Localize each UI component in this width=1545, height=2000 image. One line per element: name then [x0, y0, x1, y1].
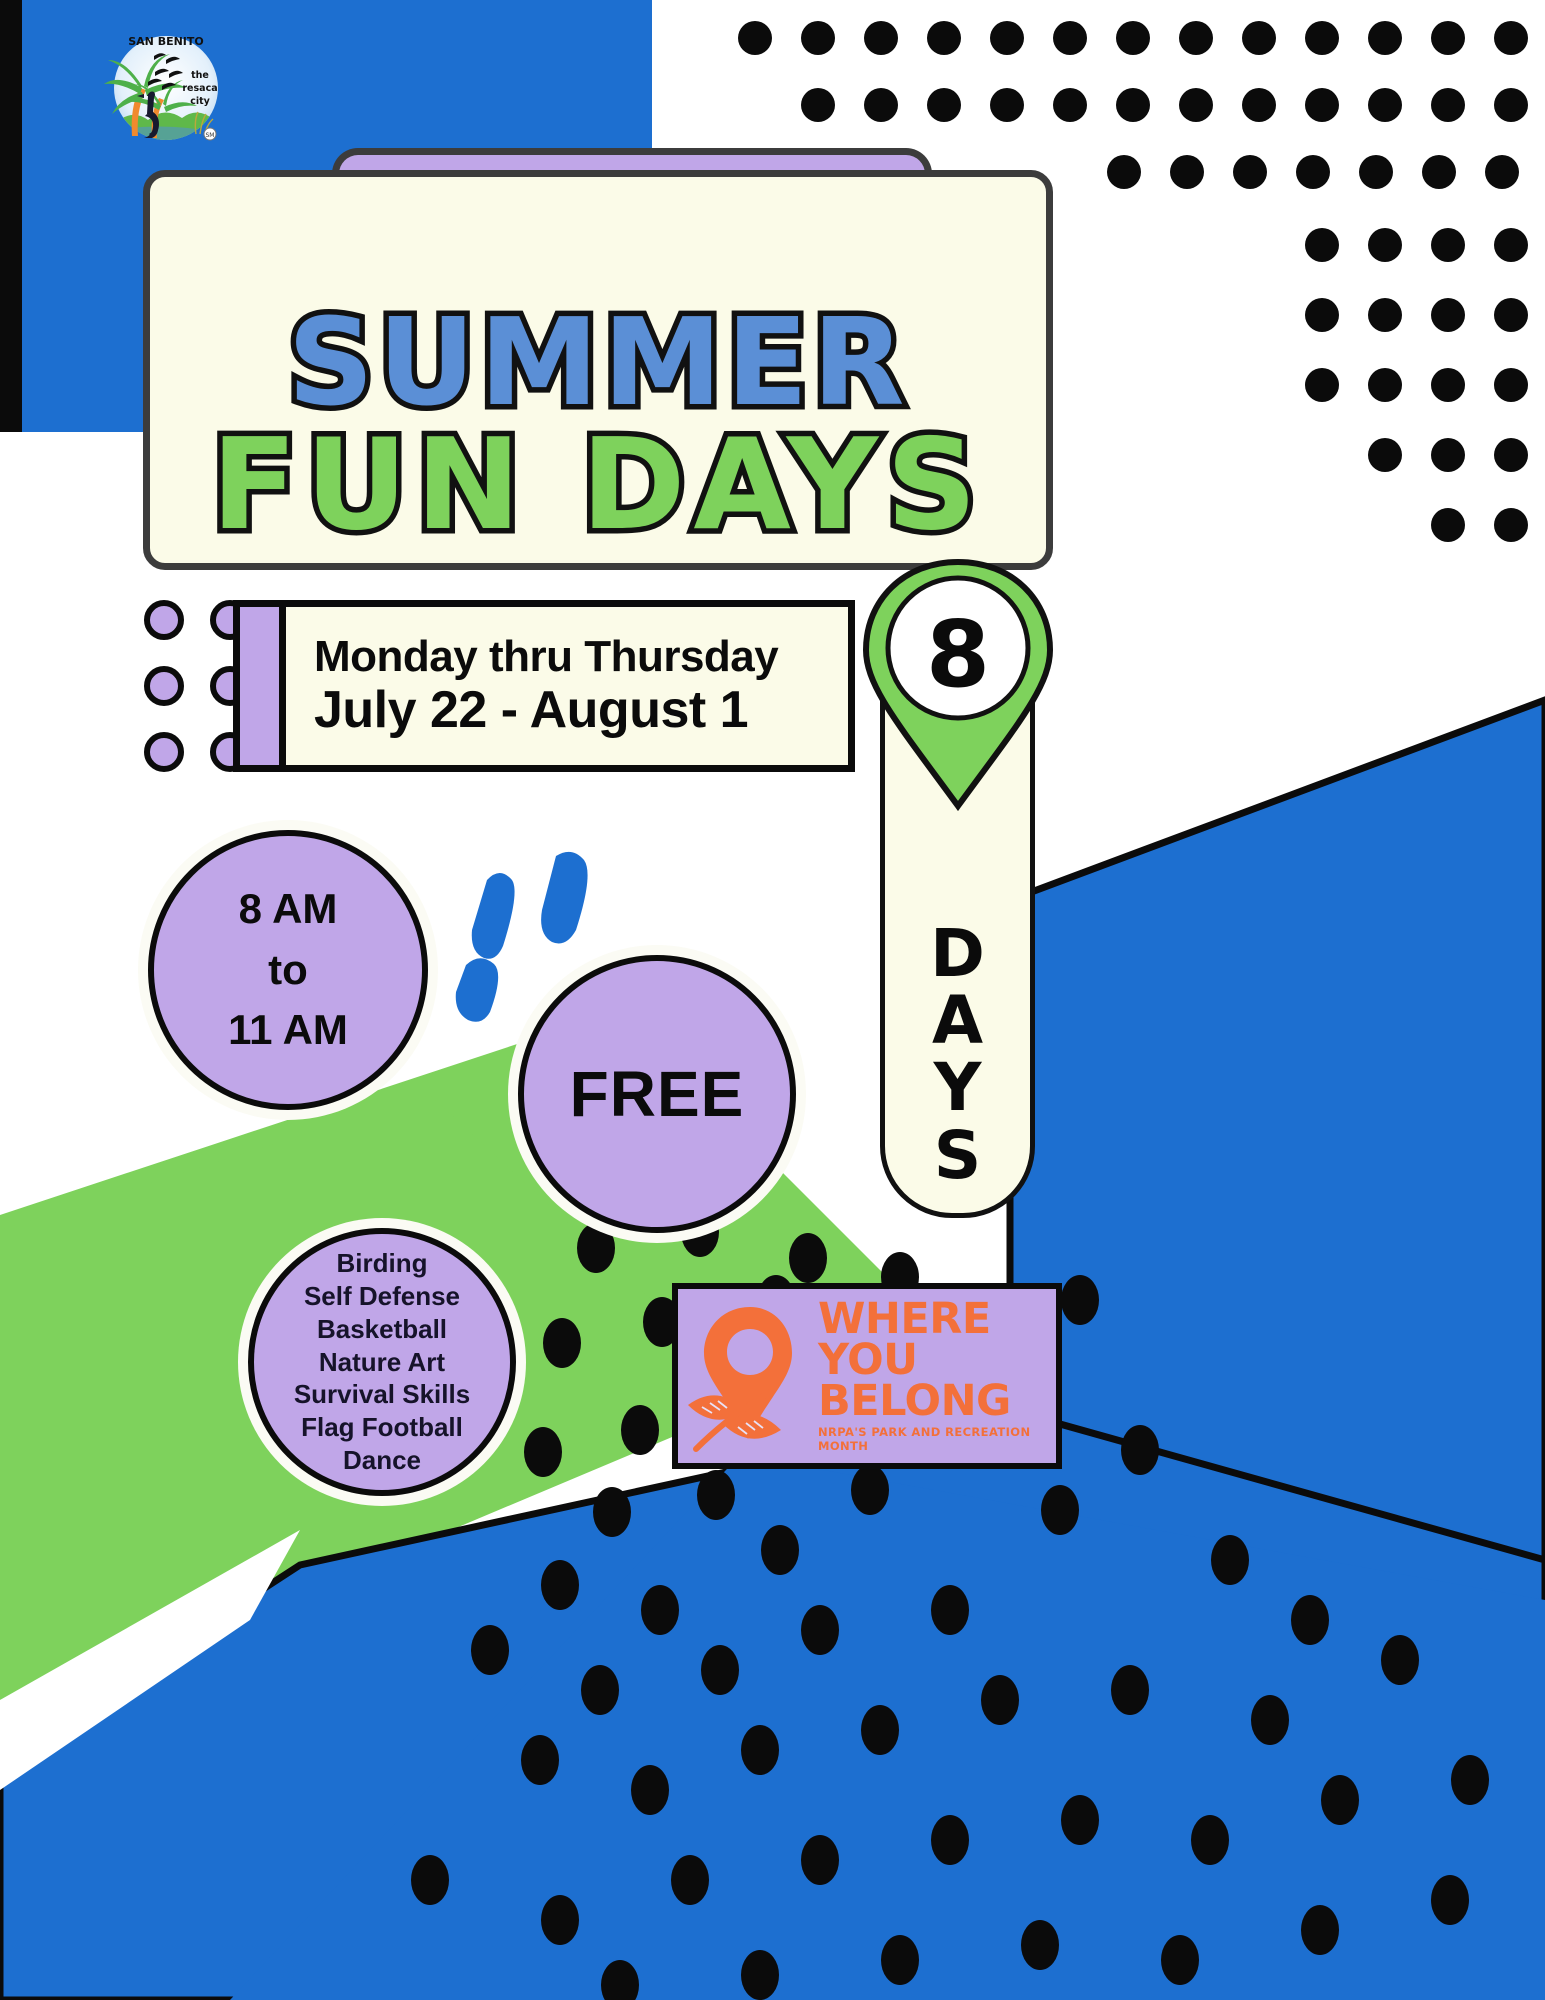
cost-label: FREE [570, 1057, 745, 1131]
activity-item: Self Defense [294, 1280, 470, 1313]
logo-tagline-2: resaca [182, 83, 217, 94]
svg-text:SM: SM [206, 132, 215, 139]
nrpa-where-you-belong-logo: WHERE YOU BELONG NRPA'S PARK AND RECREAT… [672, 1283, 1062, 1469]
logo-tagline-1: the [191, 70, 209, 81]
title-card: SUMMER FUN DAYS [143, 170, 1053, 570]
purple-dot [144, 732, 184, 772]
activity-item: Basketball [294, 1313, 470, 1346]
schedule-dates: July 22 - August 1 [314, 682, 848, 739]
logo-tagline-3: city [190, 96, 210, 107]
activity-item: Survival Skills [294, 1378, 470, 1411]
nrpa-line-2: YOU [818, 1340, 1046, 1381]
schedule-accent-bar [240, 607, 286, 765]
time-end: 11 AM [228, 1000, 348, 1061]
time-start: 8 AM [228, 879, 348, 940]
flyer-canvas: SAN BENITO the resaca city SM SIGN UP OP… [0, 0, 1545, 2000]
schedule-days: Monday thru Thursday [314, 633, 848, 681]
bg-black-left-edge [0, 0, 22, 432]
logo-city-name: SAN BENITO [128, 35, 204, 48]
activity-item: Birding [294, 1247, 470, 1280]
duration-letter-y: Y [934, 1054, 982, 1121]
title-line-summer: SUMMER [150, 307, 1046, 421]
purple-dot [144, 666, 184, 706]
activity-item: Nature Art [294, 1346, 470, 1379]
duration-pin: 8 [858, 554, 1058, 814]
san-benito-city-logo: SAN BENITO the resaca city SM [92, 18, 232, 158]
activities-circle: Birding Self Defense Basketball Nature A… [248, 1228, 516, 1496]
duration-count: 8 [858, 554, 1058, 754]
nrpa-line-1: WHERE [818, 1299, 1046, 1340]
nrpa-tagline: NRPA'S PARK AND RECREATION MONTH [818, 1425, 1046, 1453]
cost-circle: FREE [518, 955, 796, 1233]
purple-dot [144, 600, 184, 640]
pin-and-leaves-icon [678, 1289, 818, 1459]
time-circle: 8 AM to 11 AM [148, 830, 428, 1110]
duration-letter-s: S [934, 1122, 982, 1189]
schedule-banner: Monday thru Thursday July 22 - August 1 [233, 600, 855, 772]
activity-item: Dance [294, 1444, 470, 1477]
nrpa-line-3: BELONG [818, 1381, 1046, 1422]
time-connector: to [228, 940, 348, 1001]
logo-water [114, 126, 214, 148]
activity-item: Flag Football [294, 1411, 470, 1444]
title-line-fun-days: FUN DAYS [150, 425, 1046, 545]
duration-letter-d: D [930, 920, 985, 987]
duration-letter-a: A [932, 987, 983, 1054]
